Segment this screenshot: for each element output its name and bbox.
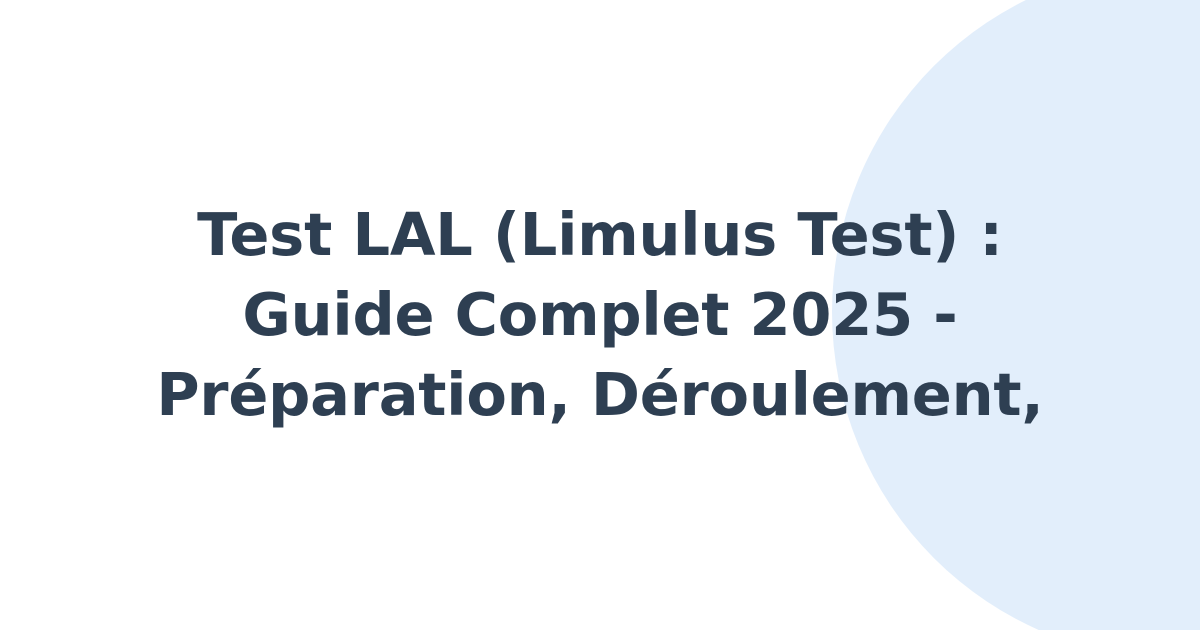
og-card-canvas: Test LAL (Limulus Test) : Guide Complet … [0, 0, 1200, 630]
title-block: Test LAL (Limulus Test) : Guide Complet … [100, 195, 1100, 435]
page-title: Test LAL (Limulus Test) : Guide Complet … [140, 195, 1060, 435]
